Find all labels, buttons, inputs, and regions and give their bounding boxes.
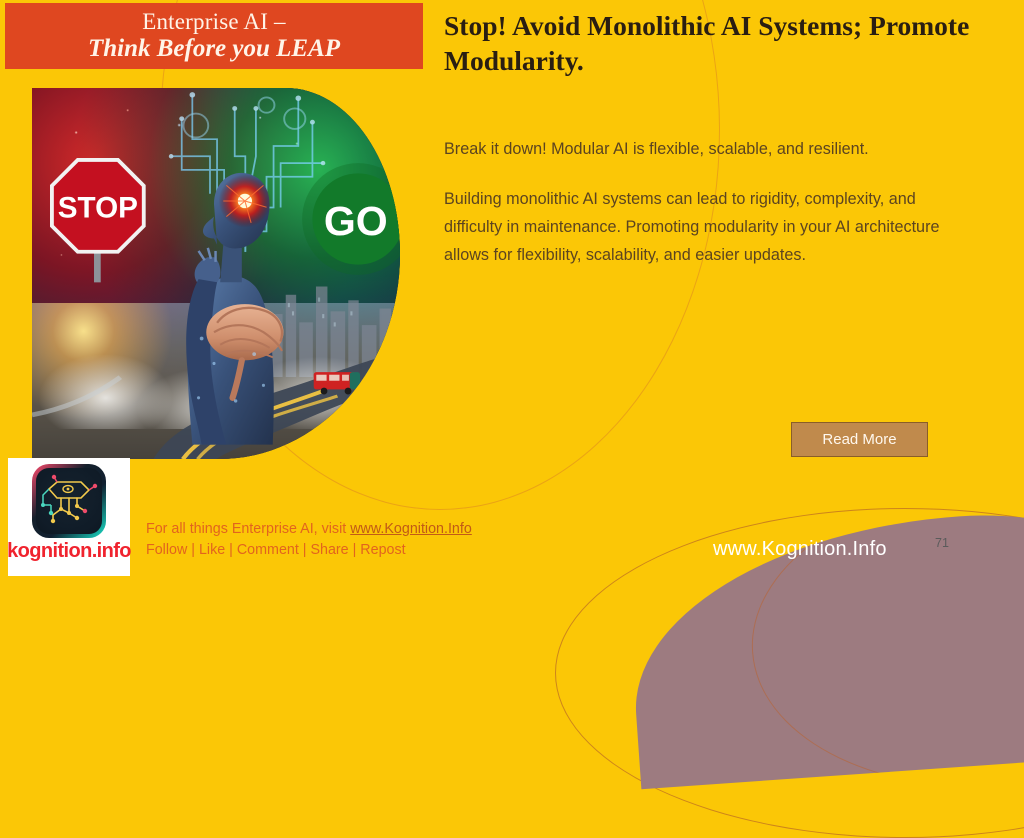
footer-blob-website-label: www.Kognition.Info [713,538,887,561]
svg-text:STOP: STOP [58,192,138,225]
read-more-button[interactable]: Read More [791,422,928,457]
banner-line-1: Enterprise AI – [142,10,286,35]
circuit-board-glyph-icon [37,473,101,529]
slide-illustration: STOP GO [32,88,400,459]
svg-text:GO: GO [323,198,387,244]
footer-website-link[interactable]: www.Kognition.Info [350,521,472,537]
ai-humanoid-figure-icon [146,151,301,448]
slide-body: Break it down! Modular AI is flexible, s… [444,136,954,269]
body-paragraph-2: Building monolithic AI systems can lead … [444,186,954,270]
series-banner: Enterprise AI – Think Before you LEAP [5,3,423,69]
go-signal-icon: GO [301,162,400,276]
body-paragraph-1: Break it down! Modular AI is flexible, s… [444,136,954,164]
logo-wordmark: kognition.info [7,540,131,563]
page-number: 71 [935,536,949,550]
bus-icon [312,367,364,396]
read-more-label: Read More [822,431,896,448]
brand-logo[interactable]: kognition.info [8,458,130,576]
circuit-board-logo-icon [32,464,106,538]
stop-sign-icon: STOP [50,158,146,282]
banner-line-2: Think Before you LEAP [88,35,340,62]
footer-promo-text: For all things Enterprise AI, visit www.… [146,519,472,560]
slide-title: Stop! Avoid Monolithic AI Systems; Promo… [444,8,984,78]
footer-line-1: For all things Enterprise AI, visit www.… [146,519,472,540]
footer-line-2: Follow | Like | Comment | Share | Repost [146,540,472,561]
slide-canvas: { "slide": { "background_color": "#FBC70… [0,0,1024,576]
footer-line-1-prefix: For all things Enterprise AI, visit [146,521,350,537]
